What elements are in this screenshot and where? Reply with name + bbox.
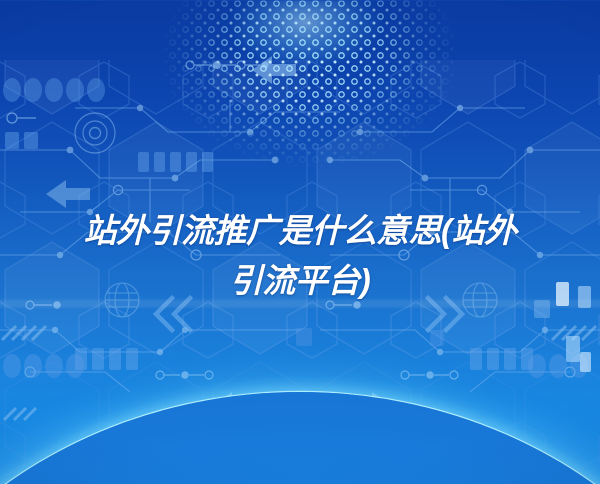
article-banner: 站外引流推广是什么意思(站外 引流平台) <box>0 0 600 484</box>
city-lights <box>0 392 600 484</box>
halftone-dot-cluster <box>165 0 455 175</box>
earth-horizon <box>0 392 600 484</box>
title-line-1: 站外引流推广是什么意思(站外 <box>0 206 600 256</box>
page-title: 站外引流推广是什么意思(站外 引流平台) <box>0 206 600 306</box>
title-line-2: 引流平台) <box>0 256 600 306</box>
